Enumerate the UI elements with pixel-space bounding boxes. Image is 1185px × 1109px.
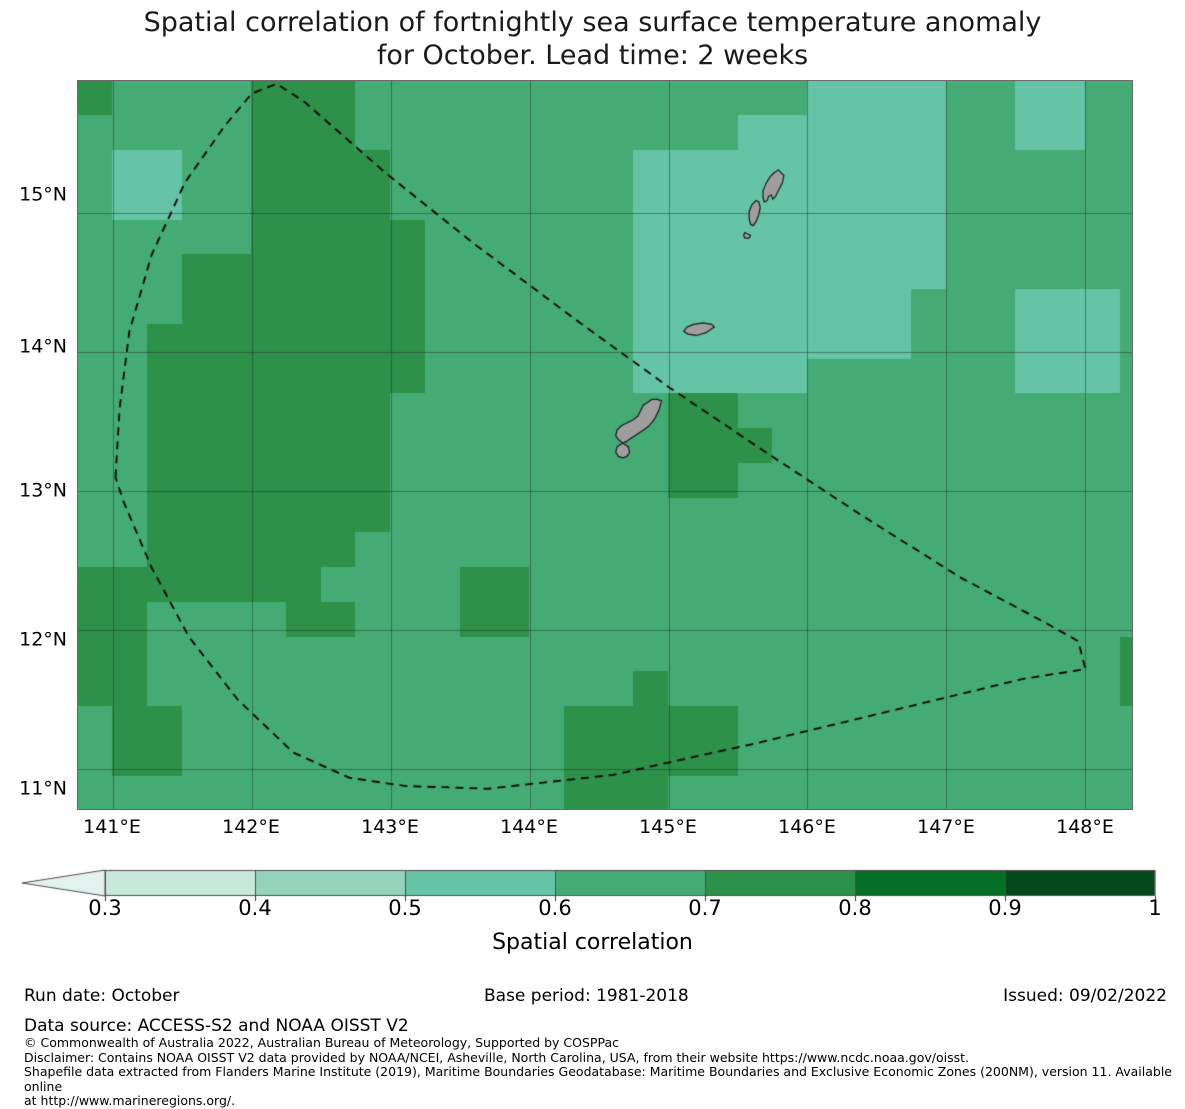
x-tick-label-4: 145°E [639, 818, 697, 837]
colorbar-tick-4: 0.7 [688, 898, 721, 919]
data-source-text: Data source: ACCESS-S2 and NOAA OISST V2 [24, 1016, 409, 1036]
eez-boundary-line [78, 81, 1133, 810]
map-plot-area[interactable] [77, 80, 1133, 810]
x-tick-label-2: 143°E [361, 818, 419, 837]
x-tick-label-5: 146°E [778, 818, 836, 837]
y-tick-label-4: 11°N [19, 780, 67, 799]
colorbar-tick-7: 1 [1148, 898, 1161, 919]
x-tick-label-6: 147°E [917, 818, 975, 837]
x-tick-label-1: 142°E [222, 818, 280, 837]
y-tick-label-2: 13°N [19, 482, 67, 501]
disclaimer-text: © Commonwealth of Australia 2022, Austra… [24, 1036, 1174, 1109]
colorbar-axis-label: Spatial correlation [0, 930, 1185, 955]
issued-date-text: Issued: 09/02/2022 [1003, 986, 1167, 1006]
colorbar-tick-1: 0.4 [238, 898, 271, 919]
y-tick-label-1: 14°N [19, 338, 67, 357]
base-period-text: Base period: 1981-2018 [484, 986, 689, 1006]
y-tick-label-0: 15°N [19, 186, 67, 205]
run-date-text: Run date: October [24, 986, 180, 1006]
colorbar-tick-3: 0.6 [538, 898, 571, 919]
x-tick-label-0: 141°E [83, 818, 141, 837]
x-tick-label-3: 144°E [500, 818, 558, 837]
colorbar-tick-0: 0.3 [88, 898, 121, 919]
colorbar-tick-5: 0.8 [838, 898, 871, 919]
colorbar-tick-6: 0.9 [988, 898, 1021, 919]
colorbar-tick-2: 0.5 [388, 898, 421, 919]
page-title: Spatial correlation of fortnightly sea s… [0, 6, 1185, 72]
x-tick-label-7: 148°E [1056, 818, 1114, 837]
y-tick-label-3: 12°N [19, 631, 67, 650]
